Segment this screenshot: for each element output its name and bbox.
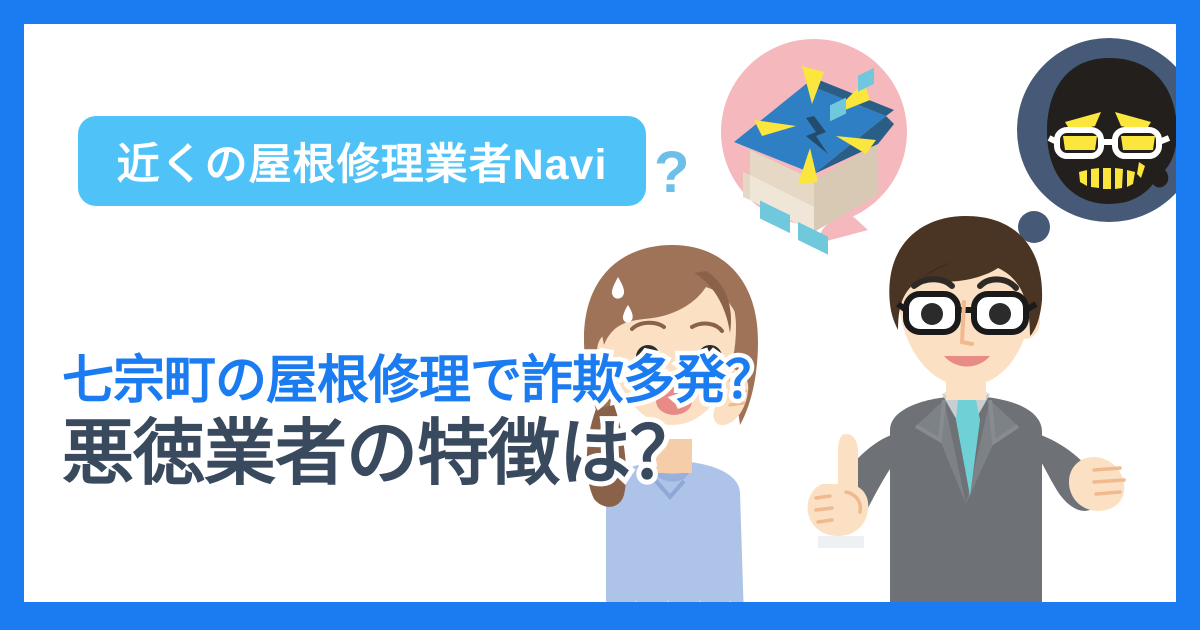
character-businessman xyxy=(794,204,1134,602)
pointing-hand xyxy=(808,434,869,548)
banner-inner-area: 近くの屋根修理業者Navi ? 七宗町の屋根修理で詐欺多発？ 悪徳業者の特徴は？ xyxy=(24,24,1176,602)
question-mark-decoration: ? xyxy=(654,144,689,202)
woman-body xyxy=(606,461,744,602)
villain-face xyxy=(1047,58,1176,204)
character-worried-woman xyxy=(544,229,804,602)
site-name-label: 近くの屋根修理業者Navi xyxy=(117,130,608,192)
banner-canvas: 近くの屋根修理業者Navi ? 七宗町の屋根修理で詐欺多発？ 悪徳業者の特徴は？ xyxy=(0,0,1200,630)
site-name-badge[interactable]: 近くの屋根修理業者Navi xyxy=(78,116,646,206)
